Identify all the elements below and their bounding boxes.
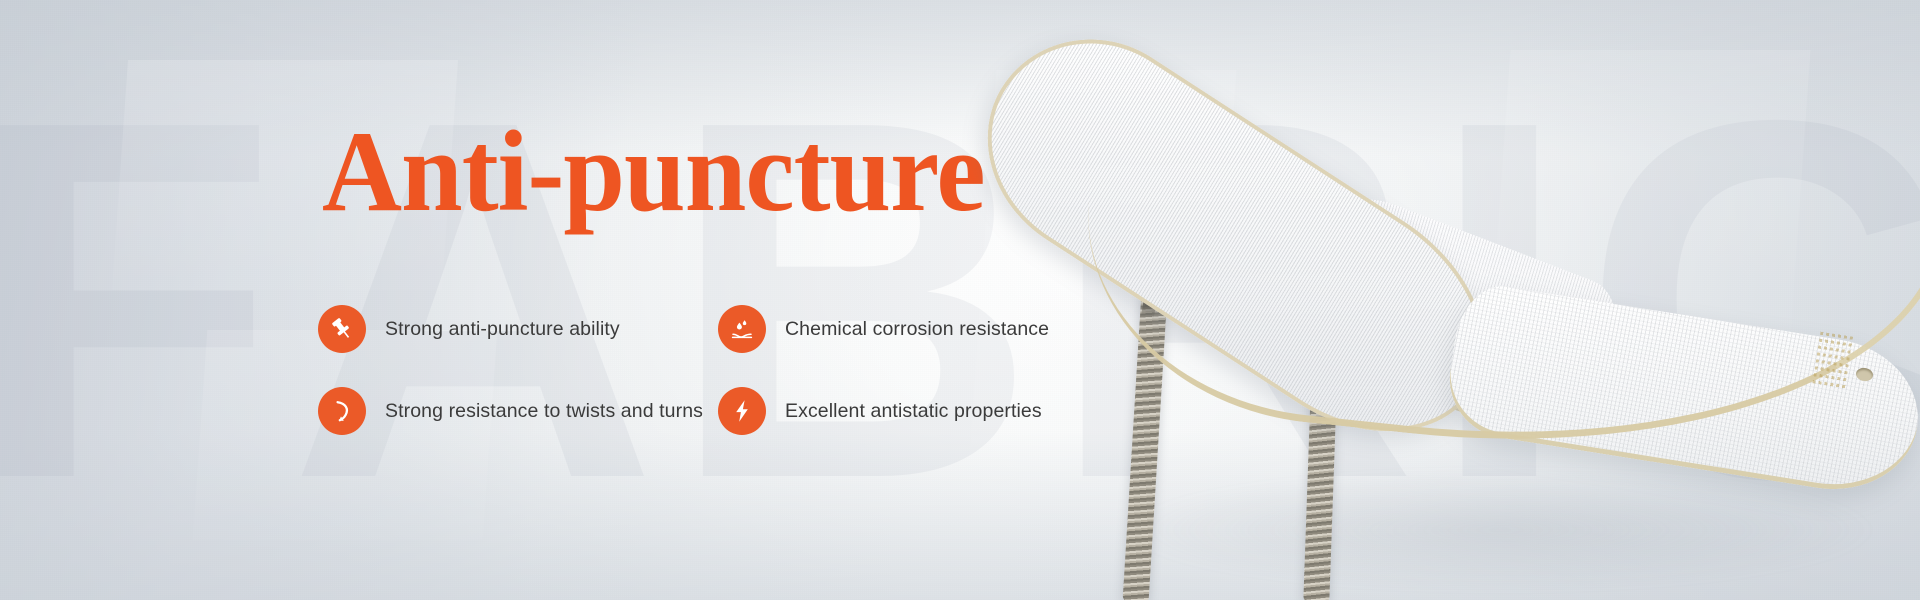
feature-item-anti-puncture: Strong anti-puncture ability xyxy=(318,305,718,353)
droplet-corrosion-icon xyxy=(718,305,766,353)
feature-label: Excellent antistatic properties xyxy=(785,400,1042,423)
feature-list: Strong anti-puncture ability Chemical co… xyxy=(318,288,1058,452)
anti-puncture-fabric-banner: F A B R I C Anti-puncture xyxy=(0,0,1920,600)
twist-arrow-icon xyxy=(318,387,366,435)
feature-item-antistatic: Excellent antistatic properties xyxy=(718,387,1118,435)
feature-item-chemical-corrosion: Chemical corrosion resistance xyxy=(718,305,1118,353)
feature-item-twist-resistance: Strong resistance to twists and turns xyxy=(318,387,718,435)
pushpin-icon xyxy=(318,305,366,353)
feature-label: Chemical corrosion resistance xyxy=(785,318,1049,341)
page-title: Anti-puncture xyxy=(322,112,985,234)
lightning-bolt-icon xyxy=(718,387,766,435)
feature-label: Strong anti-puncture ability xyxy=(385,318,620,341)
feature-label: Strong resistance to twists and turns xyxy=(385,400,703,423)
